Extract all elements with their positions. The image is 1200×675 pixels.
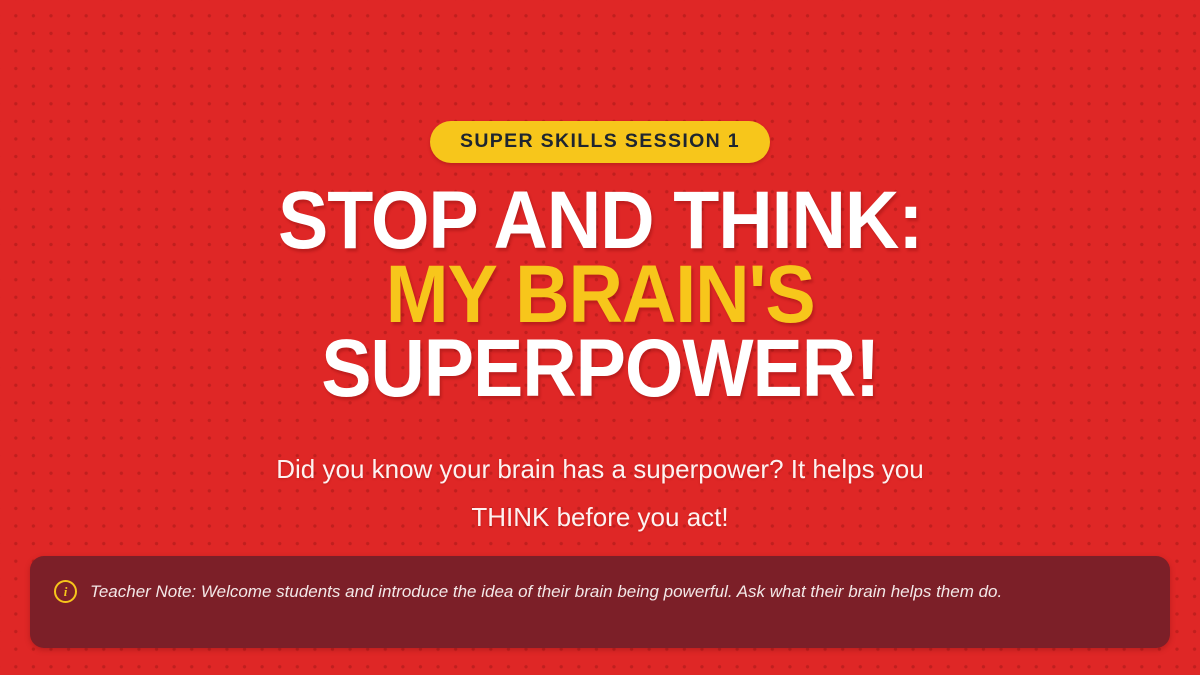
subtitle-text: Did you know your brain has a superpower… <box>240 445 960 541</box>
slide-root: SUPER SKILLS SESSION 1 STOP AND THINK: M… <box>0 0 1200 675</box>
teacher-note-bar: i Teacher Note: Welcome students and int… <box>30 556 1170 648</box>
teacher-note-text: Teacher Note: Welcome students and intro… <box>90 578 1002 606</box>
info-icon: i <box>54 580 77 603</box>
title-line-2: MY BRAIN'S <box>278 258 922 332</box>
session-badge-label: SUPER SKILLS SESSION 1 <box>460 132 740 152</box>
slide-content: SUPER SKILLS SESSION 1 STOP AND THINK: M… <box>0 0 1200 556</box>
page-title: STOP AND THINK: MY BRAIN'S SUPERPOWER! <box>278 184 922 406</box>
session-badge: SUPER SKILLS SESSION 1 <box>430 121 770 163</box>
title-line-1: STOP AND THINK: <box>278 184 922 258</box>
title-line-3: SUPERPOWER! <box>278 332 922 406</box>
